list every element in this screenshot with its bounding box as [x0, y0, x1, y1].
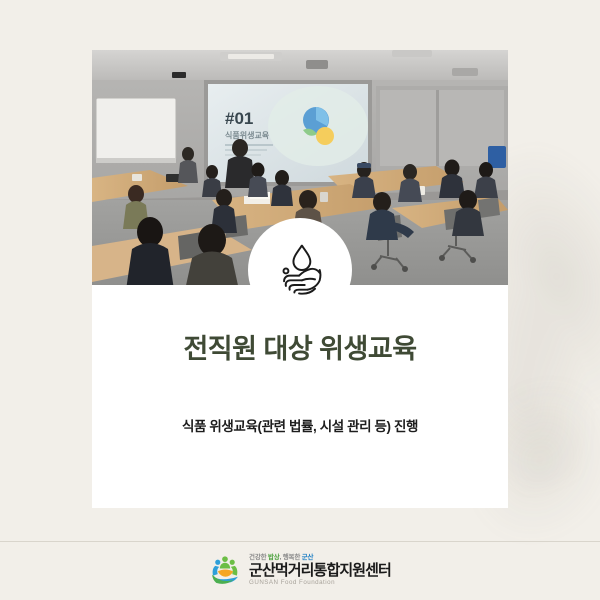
brand-name-en: GUNSAN Food Foundation — [249, 580, 391, 586]
gunsan-food-foundation-logo-icon — [209, 554, 242, 587]
svg-text:#01: #01 — [225, 109, 253, 128]
brand-tagline-part1: 건강한 — [249, 554, 268, 561]
page-subtitle: 식품 위생교육(관련 법률, 시설 관리 등) 진행 — [92, 418, 508, 437]
brand-text-block: 건강한 밥상, 행복한 군산 군산먹거리통합지원센터 GUNSAN Food F… — [249, 555, 391, 587]
poster-canvas: #01 식품위생교육 — [0, 0, 600, 600]
svg-text:식품위생교육: 식품위생교육 — [225, 130, 270, 140]
footer-branding: 건강한 밥상, 행복한 군산 군산먹거리통합지원센터 GUNSAN Food F… — [0, 541, 600, 600]
brand-tagline-highlight-bapsang: 밥상 — [268, 554, 280, 561]
brand-name-ko: 군산먹거리통합지원센터 — [249, 563, 391, 578]
brand-tagline: 건강한 밥상, 행복한 군산 — [249, 555, 391, 562]
brand-tagline-part2: , 행복한 — [280, 554, 302, 561]
hand-washing-badge — [248, 218, 352, 322]
hand-washing-icon — [270, 240, 330, 300]
brand-tagline-highlight-gunsan: 군산 — [302, 554, 314, 561]
page-title: 전직원 대상 위생교육 — [92, 333, 508, 367]
